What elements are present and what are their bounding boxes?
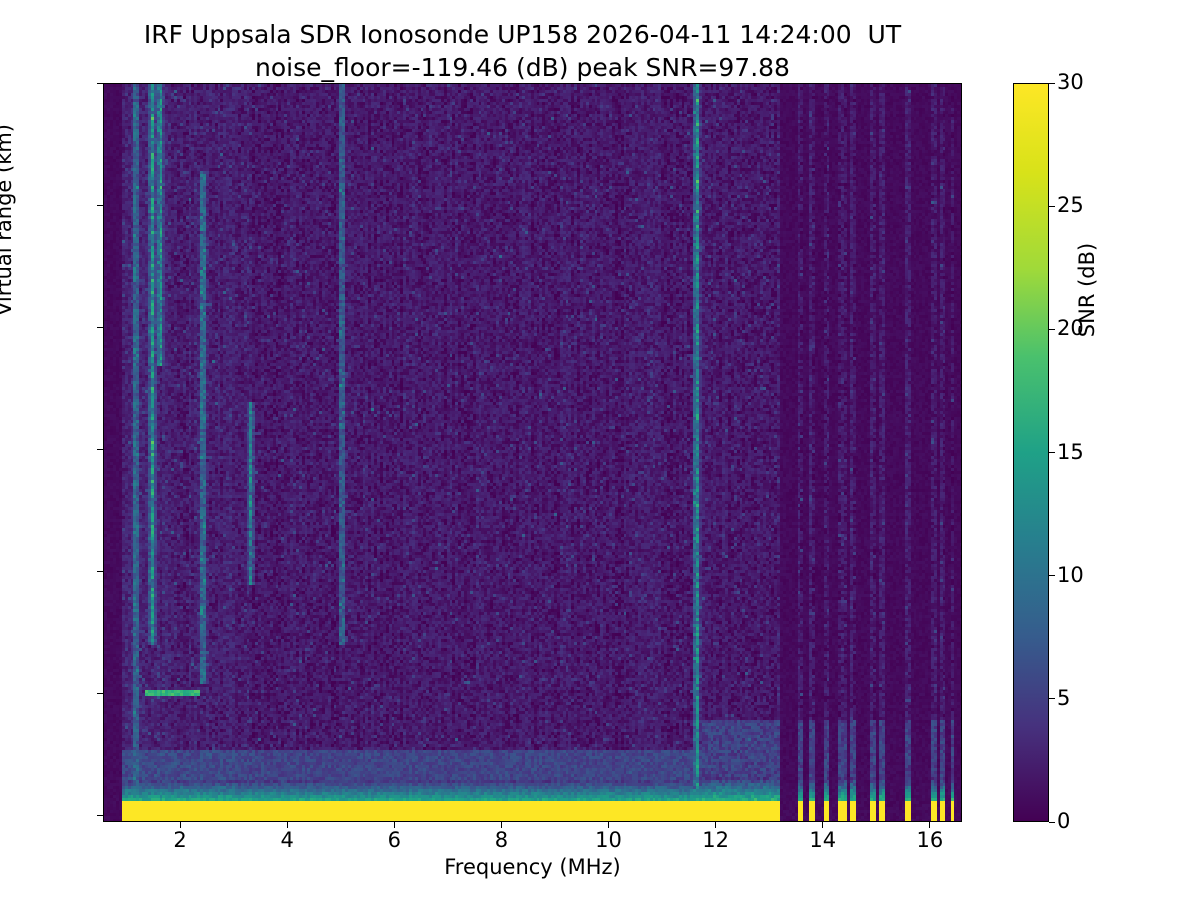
colorbar-tick-label: 30	[1057, 70, 1147, 94]
colorbar	[1013, 83, 1049, 822]
x-tick-label: 6	[354, 828, 434, 852]
ionogram-plot-area	[103, 83, 962, 822]
colorbar-tick-label: 0	[1057, 809, 1147, 833]
title-line-2: noise_floor=-119.46 (dB) peak SNR=97.88	[0, 51, 1045, 84]
x-tick-label: 4	[247, 828, 327, 852]
colorbar-tick-mark	[1049, 822, 1055, 823]
x-tick-mark	[501, 822, 502, 828]
x-tick-label: 14	[783, 828, 863, 852]
ionogram-figure: IRF Uppsala SDR Ionosonde UP158 2026-04-…	[0, 0, 1200, 900]
y-tick-mark	[97, 815, 103, 816]
ionogram-heatmap	[104, 84, 962, 822]
x-tick-label: 10	[569, 828, 649, 852]
x-tick-mark	[715, 822, 716, 828]
y-tick-mark	[97, 449, 103, 450]
colorbar-tick-label: 25	[1057, 193, 1147, 217]
title-line-1: IRF Uppsala SDR Ionosonde UP158 2026-04-…	[0, 18, 1045, 51]
y-tick-mark	[97, 571, 103, 572]
x-tick-mark	[929, 822, 930, 828]
colorbar-gradient	[1014, 84, 1048, 821]
colorbar-tick-mark	[1049, 452, 1055, 453]
page-title: IRF Uppsala SDR Ionosonde UP158 2026-04-…	[0, 18, 1045, 84]
colorbar-label: SNR (dB)	[1075, 190, 1099, 390]
x-tick-label: 12	[676, 828, 756, 852]
colorbar-tick-label: 15	[1057, 440, 1147, 464]
y-tick-mark	[97, 327, 103, 328]
colorbar-tick-mark	[1049, 698, 1055, 699]
colorbar-tick-label: 20	[1057, 316, 1147, 340]
colorbar-tick-label: 10	[1057, 563, 1147, 587]
x-axis-label: Frequency (MHz)	[103, 855, 962, 879]
x-tick-label: 16	[890, 828, 970, 852]
x-tick-label: 2	[140, 828, 220, 852]
colorbar-tick-label: 5	[1057, 686, 1147, 710]
colorbar-tick-mark	[1049, 575, 1055, 576]
x-tick-mark	[822, 822, 823, 828]
x-tick-mark	[608, 822, 609, 828]
x-tick-label: 8	[461, 828, 541, 852]
x-tick-mark	[287, 822, 288, 828]
x-tick-mark	[180, 822, 181, 828]
x-tick-mark	[394, 822, 395, 828]
y-axis-label: Virtual range (km)	[0, 100, 16, 340]
y-tick-mark	[97, 205, 103, 206]
colorbar-tick-mark	[1049, 206, 1055, 207]
y-tick-mark	[97, 83, 103, 84]
colorbar-tick-mark	[1049, 83, 1055, 84]
colorbar-tick-mark	[1049, 329, 1055, 330]
y-tick-mark	[97, 693, 103, 694]
